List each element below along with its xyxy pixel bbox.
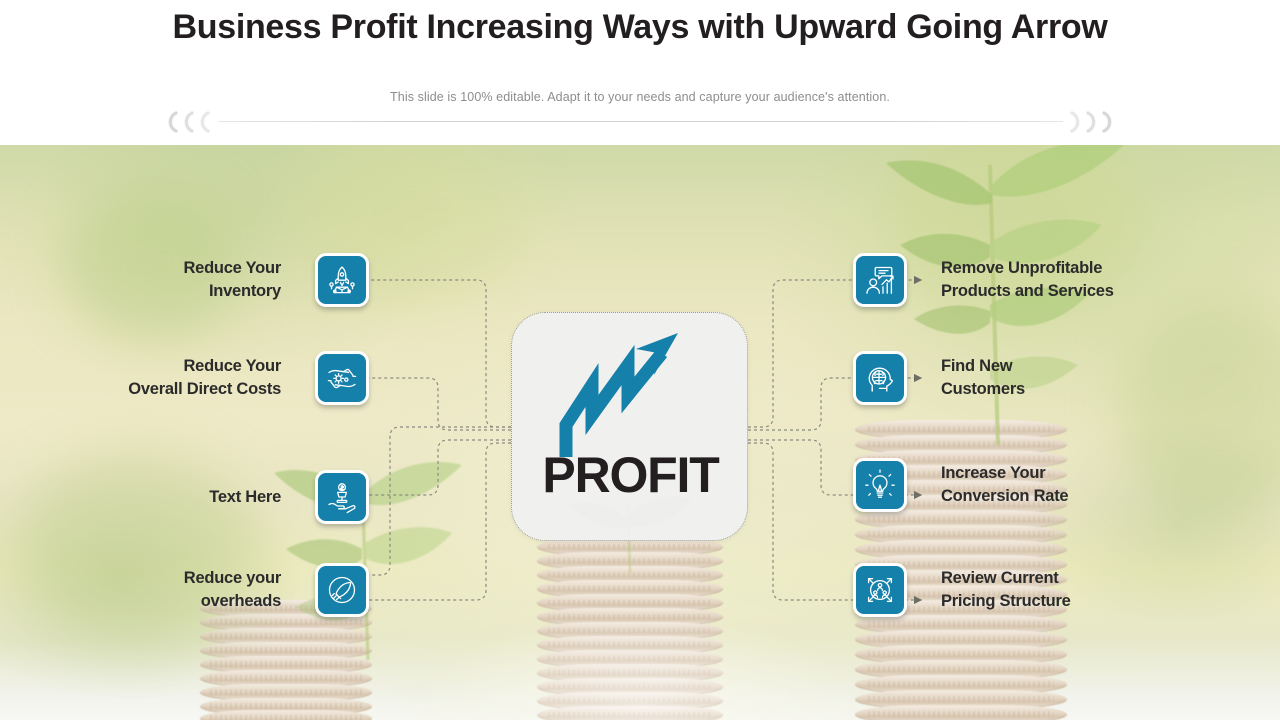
node-left-4[interactable]: Reduce youroverheads (110, 563, 415, 617)
node-left-2-label: Reduce YourOverall Direct Costs (110, 355, 315, 401)
lightbulb-icon[interactable] (853, 458, 907, 512)
upward-zigzag-arrow-icon (536, 329, 726, 459)
node-right-2-label: Find NewCustomers (907, 355, 1147, 401)
divider-line (218, 121, 1063, 122)
rocket-circle-icon[interactable] (315, 563, 369, 617)
node-right-4-label: Review CurrentPricing Structure (907, 567, 1147, 613)
node-right-3-label: Increase YourConversion Rate (907, 462, 1147, 508)
chevrons-right-icon (1056, 107, 1118, 137)
slide-header: Business Profit Increasing Ways with Upw… (0, 0, 1280, 145)
center-profit-panel[interactable]: PROFIT (511, 312, 748, 541)
node-left-3[interactable]: Text Here (110, 470, 415, 524)
page-title: Business Profit Increasing Ways with Upw… (0, 8, 1280, 47)
rocket-launch-icon[interactable] (315, 253, 369, 307)
node-left-4-label: Reduce youroverheads (110, 567, 315, 613)
person-chart-icon[interactable] (853, 253, 907, 307)
network-people-icon[interactable] (853, 563, 907, 617)
node-right-4[interactable]: Review CurrentPricing Structure (853, 563, 1183, 617)
chevrons-left-icon (162, 107, 224, 137)
node-left-1[interactable]: Reduce YourInventory (110, 253, 415, 307)
node-left-2[interactable]: Reduce YourOverall Direct Costs (110, 351, 415, 405)
profit-label: PROFIT (512, 446, 749, 504)
node-right-1-label: Remove UnprofitableProducts and Services (907, 257, 1147, 303)
hands-gears-icon[interactable] (315, 351, 369, 405)
page-subtitle: This slide is 100% editable. Adapt it to… (0, 90, 1280, 104)
header-divider (0, 107, 1280, 137)
node-right-3[interactable]: Increase YourConversion Rate (853, 458, 1183, 512)
node-right-2[interactable]: Find NewCustomers (853, 351, 1183, 405)
head-brain-icon[interactable] (853, 351, 907, 405)
slide-root: PROFIT Reduce YourInventory Reduc (0, 0, 1280, 720)
node-right-1[interactable]: Remove UnprofitableProducts and Services (853, 253, 1183, 307)
hand-money-plant-icon[interactable] (315, 470, 369, 524)
node-left-1-label: Reduce YourInventory (110, 257, 315, 303)
node-left-3-label: Text Here (110, 486, 315, 509)
